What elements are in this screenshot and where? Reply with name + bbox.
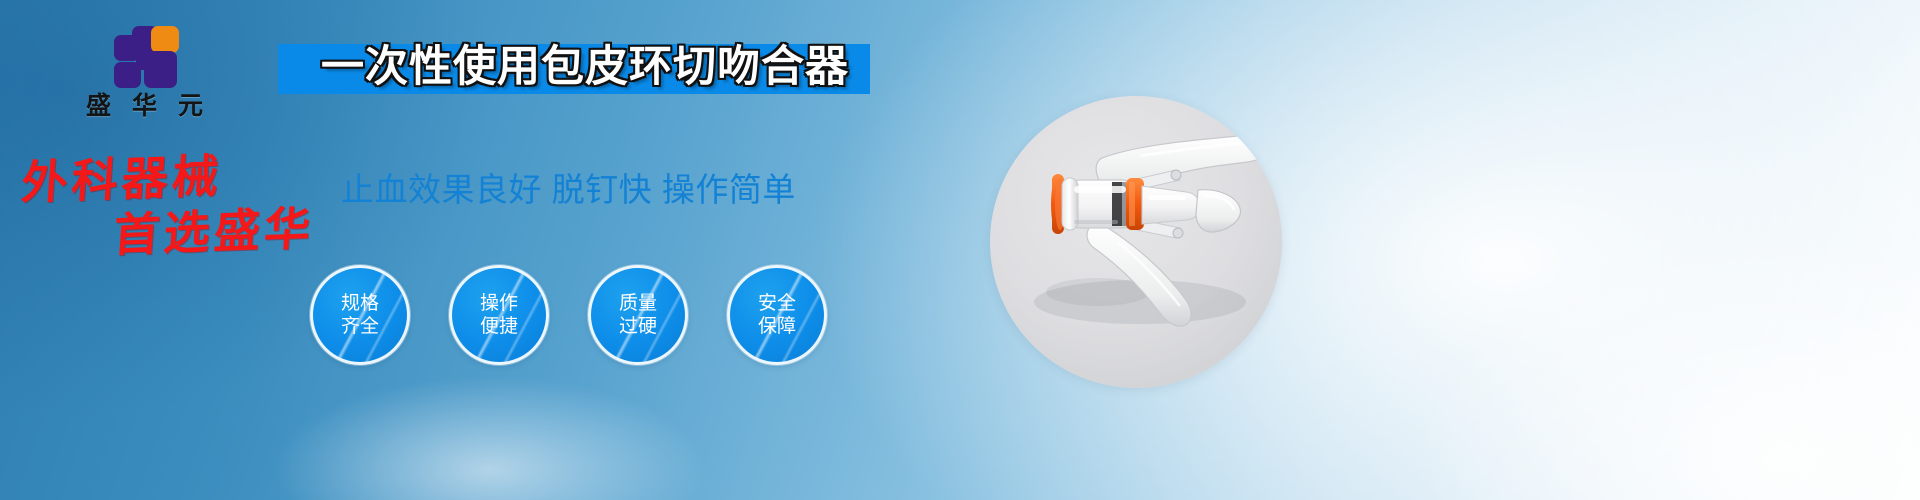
feature-badge-list: 规格 齐全 操作 便捷 质量 过硬 安全 保障	[310, 265, 840, 365]
logo-mark-icon	[114, 26, 182, 88]
feature-badge-line-2: 保障	[758, 315, 796, 338]
feature-badge-operation[interactable]: 操作 便捷	[449, 265, 549, 365]
feature-badge-line-2: 便捷	[480, 315, 518, 338]
calligraphy-slogan: 外科器械 首选盛华	[22, 150, 352, 258]
slogan-line-1: 外科器械	[20, 144, 355, 209]
feature-badge-quality[interactable]: 质量 过硬	[588, 265, 688, 365]
brand-logo[interactable]: 盛 华 元	[58, 26, 238, 119]
feature-badge-line-2: 过硬	[619, 315, 657, 338]
promo-banner: 盛 华 元 一次性使用包皮环切吻合器 外科器械 首选盛华 止血效果良好 脱钉快 …	[0, 0, 1920, 500]
logo-block-accent	[151, 26, 179, 53]
feature-badge-line-1: 规格	[341, 292, 379, 315]
logo-block-5	[136, 55, 152, 70]
product-illustration	[990, 96, 1282, 388]
feature-badge-line-1: 质量	[619, 292, 657, 315]
product-photo[interactable]	[990, 96, 1282, 388]
feature-badge-safety[interactable]: 安全 保障	[727, 265, 827, 365]
feature-badge-specification[interactable]: 规格 齐全	[310, 265, 410, 365]
brand-name: 盛 华 元	[58, 94, 238, 119]
page-title: 一次性使用包皮环切吻合器	[285, 36, 885, 98]
feature-badge-line-1: 操作	[480, 292, 518, 315]
subtitle: 止血效果良好 脱钉快 操作简单	[341, 168, 841, 212]
feature-badge-line-1: 安全	[758, 292, 796, 315]
slogan-line-2: 首选盛华	[112, 200, 355, 262]
feature-badge-line-2: 齐全	[341, 315, 379, 338]
